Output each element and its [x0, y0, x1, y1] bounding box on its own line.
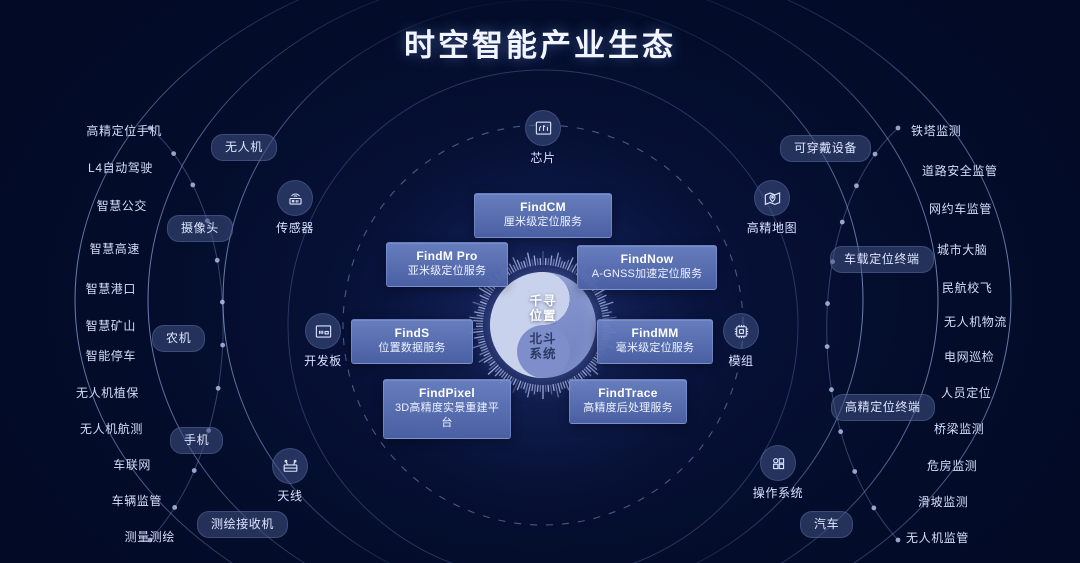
service-card-findtrace[interactable]: FindTrace 高精度后处理服务 — [569, 379, 687, 424]
pill-vehicle-terminal[interactable]: 车载定位终端 — [830, 246, 934, 273]
leaf-label-right[interactable]: 电网巡检 — [944, 350, 994, 365]
leaf-label-right[interactable]: 滑坡监测 — [918, 495, 968, 510]
core-bottom-line-2: 系统 — [490, 347, 596, 362]
icon-node-label: 天线 — [245, 489, 335, 504]
service-card-findcm[interactable]: FindCM 厘米级定位服务 — [474, 193, 612, 238]
pill-wearable-device[interactable]: 可穿戴设备 — [780, 135, 871, 162]
leaf-label-left[interactable]: 车联网 — [113, 458, 151, 473]
service-desc: 毫米级定位服务 — [608, 341, 702, 356]
service-name: FindPixel — [394, 386, 500, 401]
leaf-label-right[interactable]: 网约车监管 — [929, 202, 992, 217]
pill-hd-positioning-terminal[interactable]: 高精定位终端 — [831, 394, 935, 421]
leaf-dot — [838, 429, 843, 434]
leaf-label-left[interactable]: 无人机植保 — [76, 386, 139, 401]
service-card-findnow[interactable]: FindNow A-GNSS加速定位服务 — [577, 245, 717, 290]
leaf-dot — [215, 258, 220, 263]
leaf-dot — [220, 343, 225, 348]
service-desc: 高精度后处理服务 — [580, 401, 676, 416]
leaf-dot — [216, 386, 221, 391]
leaf-label-right[interactable]: 无人机监管 — [906, 531, 969, 546]
icon-node-module[interactable]: 模组 — [696, 313, 786, 369]
icon-node-chip[interactable]: 芯片 — [498, 110, 588, 166]
leaf-label-left[interactable]: 智能停车 — [86, 349, 136, 364]
service-card-findm-pro[interactable]: FindM Pro 亚米级定位服务 — [386, 242, 508, 287]
service-name: FindTrace — [580, 386, 676, 401]
leaf-label-right[interactable]: 无人机物流 — [944, 315, 1007, 330]
map-pin-icon — [754, 180, 790, 216]
pill-survey-receiver[interactable]: 测绘接收机 — [197, 511, 288, 538]
leaf-label-right[interactable]: 桥梁监测 — [934, 422, 984, 437]
service-desc: 厘米级定位服务 — [485, 215, 601, 230]
leaf-label-left[interactable]: 智慧矿山 — [86, 319, 136, 334]
pill-camera[interactable]: 摄像头 — [167, 215, 233, 242]
core-label-bottom: 北斗 系统 — [490, 332, 596, 362]
icon-node-label: 操作系统 — [733, 486, 823, 501]
leaf-label-left[interactable]: L4自动驾驶 — [88, 161, 153, 176]
leaf-dot — [192, 468, 197, 473]
leaf-dot — [825, 301, 830, 306]
service-card-finds[interactable]: FindS 位置数据服务 — [351, 319, 473, 364]
service-desc: 位置数据服务 — [362, 341, 462, 356]
core-label-top: 千寻 位置 — [490, 294, 596, 324]
core-bottom-line-1: 北斗 — [490, 332, 596, 347]
service-name: FindCM — [485, 200, 601, 215]
pill-automobile[interactable]: 汽车 — [800, 511, 853, 538]
infographic-canvas: 时空智能产业生态 千寻 位置 北斗 系统 FindCM 厘米级定位服务 Find… — [0, 0, 1080, 563]
leaf-dot — [825, 344, 830, 349]
service-desc: 3D高精度实景重建平台 — [394, 401, 500, 431]
chip-board-icon — [525, 110, 561, 146]
leaf-label-right[interactable]: 道路安全监管 — [922, 164, 998, 179]
leaf-dot — [854, 183, 859, 188]
leaf-dot — [896, 126, 901, 131]
leaf-dot — [896, 538, 901, 543]
module-chip-icon — [723, 313, 759, 349]
pill-mobile-phone[interactable]: 手机 — [170, 427, 223, 454]
leaf-dot — [171, 151, 176, 156]
icon-node-label: 模组 — [696, 354, 786, 369]
leaf-dot — [190, 183, 195, 188]
leaf-label-left[interactable]: 车辆监管 — [112, 494, 162, 509]
os-grid-icon — [760, 445, 796, 481]
service-name: FindM Pro — [397, 249, 497, 264]
icon-node-antenna[interactable]: 天线 — [245, 448, 335, 504]
core-top-line-2: 位置 — [490, 309, 596, 324]
leaf-dot — [172, 505, 177, 510]
leaf-label-left[interactable]: 无人机航测 — [80, 422, 143, 437]
service-card-findpixel[interactable]: FindPixel 3D高精度实景重建平台 — [383, 379, 511, 439]
pill-agri-machinery[interactable]: 农机 — [152, 325, 205, 352]
leaf-label-left[interactable]: 高精定位手机 — [86, 124, 162, 139]
leaf-label-right[interactable]: 人员定位 — [941, 386, 991, 401]
leaf-label-right[interactable]: 铁塔监测 — [911, 124, 961, 139]
service-desc: 亚米级定位服务 — [397, 264, 497, 279]
icon-node-dev-board[interactable]: 开发板 — [278, 313, 368, 369]
leaf-dot — [871, 506, 876, 511]
leaf-dot — [852, 469, 857, 474]
service-name: FindNow — [588, 252, 706, 267]
service-name: FindMM — [608, 326, 702, 341]
core-top-line-1: 千寻 — [490, 294, 596, 309]
leaf-dot — [220, 300, 225, 305]
sensor-icon — [277, 180, 313, 216]
antenna-icon — [272, 448, 308, 484]
dev-board-icon — [305, 313, 341, 349]
page-title: 时空智能产业生态 — [0, 20, 1080, 65]
leaf-dot — [873, 152, 878, 157]
icon-node-label: 芯片 — [498, 151, 588, 166]
leaf-label-left[interactable]: 智慧高速 — [90, 242, 140, 257]
leaf-label-left[interactable]: 智慧公交 — [97, 199, 147, 214]
icon-node-label: 传感器 — [250, 221, 340, 236]
service-name: FindS — [362, 326, 462, 341]
leaf-label-left[interactable]: 测量测绘 — [125, 530, 175, 545]
leaf-spine-right — [827, 128, 898, 540]
leaf-label-right[interactable]: 城市大脑 — [937, 243, 987, 258]
leaf-dot — [840, 220, 845, 225]
icon-node-hd-map[interactable]: 高精地图 — [727, 180, 817, 236]
icon-node-operating-system[interactable]: 操作系统 — [733, 445, 823, 501]
icon-node-label: 高精地图 — [727, 221, 817, 236]
leaf-label-left[interactable]: 智慧港口 — [86, 282, 136, 297]
icon-node-label: 开发板 — [278, 354, 368, 369]
icon-node-sensor[interactable]: 传感器 — [250, 180, 340, 236]
leaf-label-right[interactable]: 危房监测 — [927, 459, 977, 474]
leaf-label-right[interactable]: 民航校飞 — [942, 281, 992, 296]
service-desc: A-GNSS加速定位服务 — [588, 267, 706, 282]
leaf-dot — [829, 387, 834, 392]
pill-drone[interactable]: 无人机 — [211, 134, 277, 161]
